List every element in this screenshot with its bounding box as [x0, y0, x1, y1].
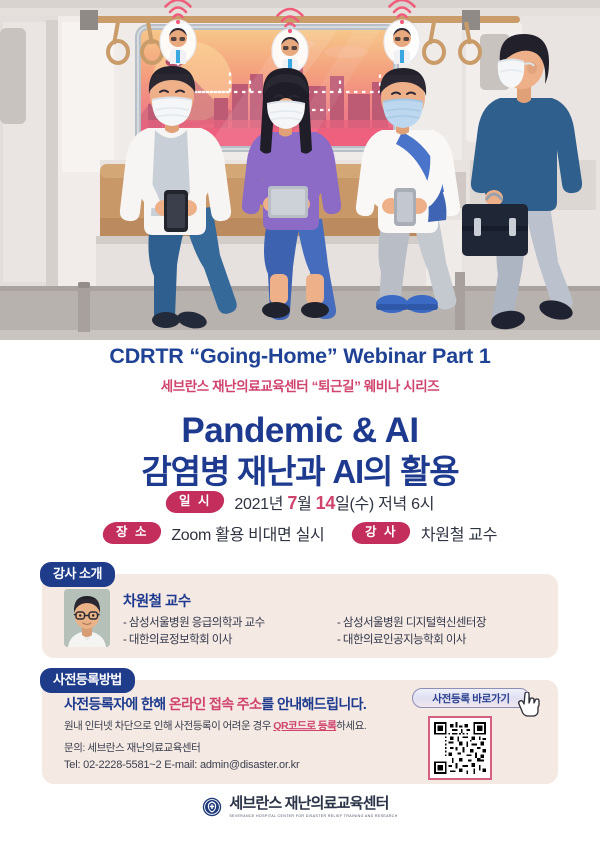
credential-item: - 대한의료정보학회 이사 — [123, 631, 323, 647]
footer-english-name: SEVERANCE HOSPITAL CENTER FOR DISASTER R… — [229, 814, 397, 818]
registration-link-button[interactable]: 사전등록 바로가기 — [412, 688, 530, 708]
speaker-panel: 차원철 교수 - 삼성서울병원 응급의학과 교수 - 삼성서울병원 디지털혁신센… — [42, 574, 558, 658]
main-title-korean: 감염병 재난과 AI의 활용 — [0, 453, 600, 491]
registration-section-tab: 사전등록방법 — [40, 668, 135, 693]
speaker-name: 차원철 교수 — [123, 590, 486, 611]
credential-item: - 대한의료인공지능학회 이사 — [337, 631, 486, 647]
contact-organization: 문의: 세브란스 재난의료교육센터 — [64, 740, 444, 755]
main-title-english: Pandemic & AI — [0, 411, 600, 450]
credential-item: - 삼성서울병원 디지털혁신센터장 — [337, 614, 486, 630]
registration-note: 원내 인터넷 차단으로 인해 사전등록이 어려운 경우 QR코드로 등록하세요. — [64, 718, 444, 733]
speaker-photo — [64, 589, 110, 647]
severance-shield-icon — [202, 797, 222, 817]
date-value: 2021년 7월 14일(수) 저녁 6시 — [234, 490, 434, 514]
registration-qr-code[interactable] — [428, 716, 492, 780]
hand-cursor-icon — [518, 692, 540, 718]
subway-illustration — [0, 0, 600, 340]
event-info: 일 시 2021년 7월 14일(수) 저녁 6시 장 소 Zoom 활용 비대… — [0, 490, 600, 552]
venue-label-pill: 장 소 — [101, 522, 163, 544]
credential-item: - 삼성서울병원 응급의학과 교수 — [123, 614, 323, 630]
speaker-credentials: - 삼성서울병원 응급의학과 교수 - 삼성서울병원 디지털혁신센터장 - 대한… — [123, 614, 486, 647]
speaker-value: 차원철 교수 — [421, 521, 497, 545]
registration-headline: 사전등록자에 한해 온라인 접속 주소를 안내해드립니다. — [64, 694, 444, 714]
registration-button-label: 사전등록 바로가기 — [432, 691, 510, 706]
english-title: CDRTR “Going-Home” Webinar Part 1 — [0, 344, 600, 369]
venue-speaker-row: 장 소 Zoom 활용 비대면 실시 강 사 차원철 교수 — [0, 521, 600, 545]
title-block: CDRTR “Going-Home” Webinar Part 1 세브란스 재… — [0, 344, 600, 491]
webinar-poster: CDRTR “Going-Home” Webinar Part 1 세브란스 재… — [0, 0, 600, 848]
speaker-section-tab: 강사 소개 — [40, 562, 115, 587]
speaker-label-pill: 강 사 — [351, 522, 413, 544]
date-row: 일 시 2021년 7월 14일(수) 저녁 6시 — [0, 490, 600, 514]
contact-tel-email: Tel: 02-2228-5581~2 E-mail: admin@disast… — [64, 759, 444, 771]
venue-value: Zoom 활용 비대면 실시 — [171, 521, 324, 545]
footer-korean-name: 세브란스 재난의료교육센터 — [229, 796, 397, 812]
date-label-pill: 일 시 — [164, 491, 226, 513]
korean-subtitle: 세브란스 재난의료교육센터 “퇴근길” 웨비나 시리즈 — [0, 375, 600, 395]
footer-logo-block: 세브란스 재난의료교육센터 SEVERANCE HOSPITAL CENTER … — [0, 796, 600, 818]
